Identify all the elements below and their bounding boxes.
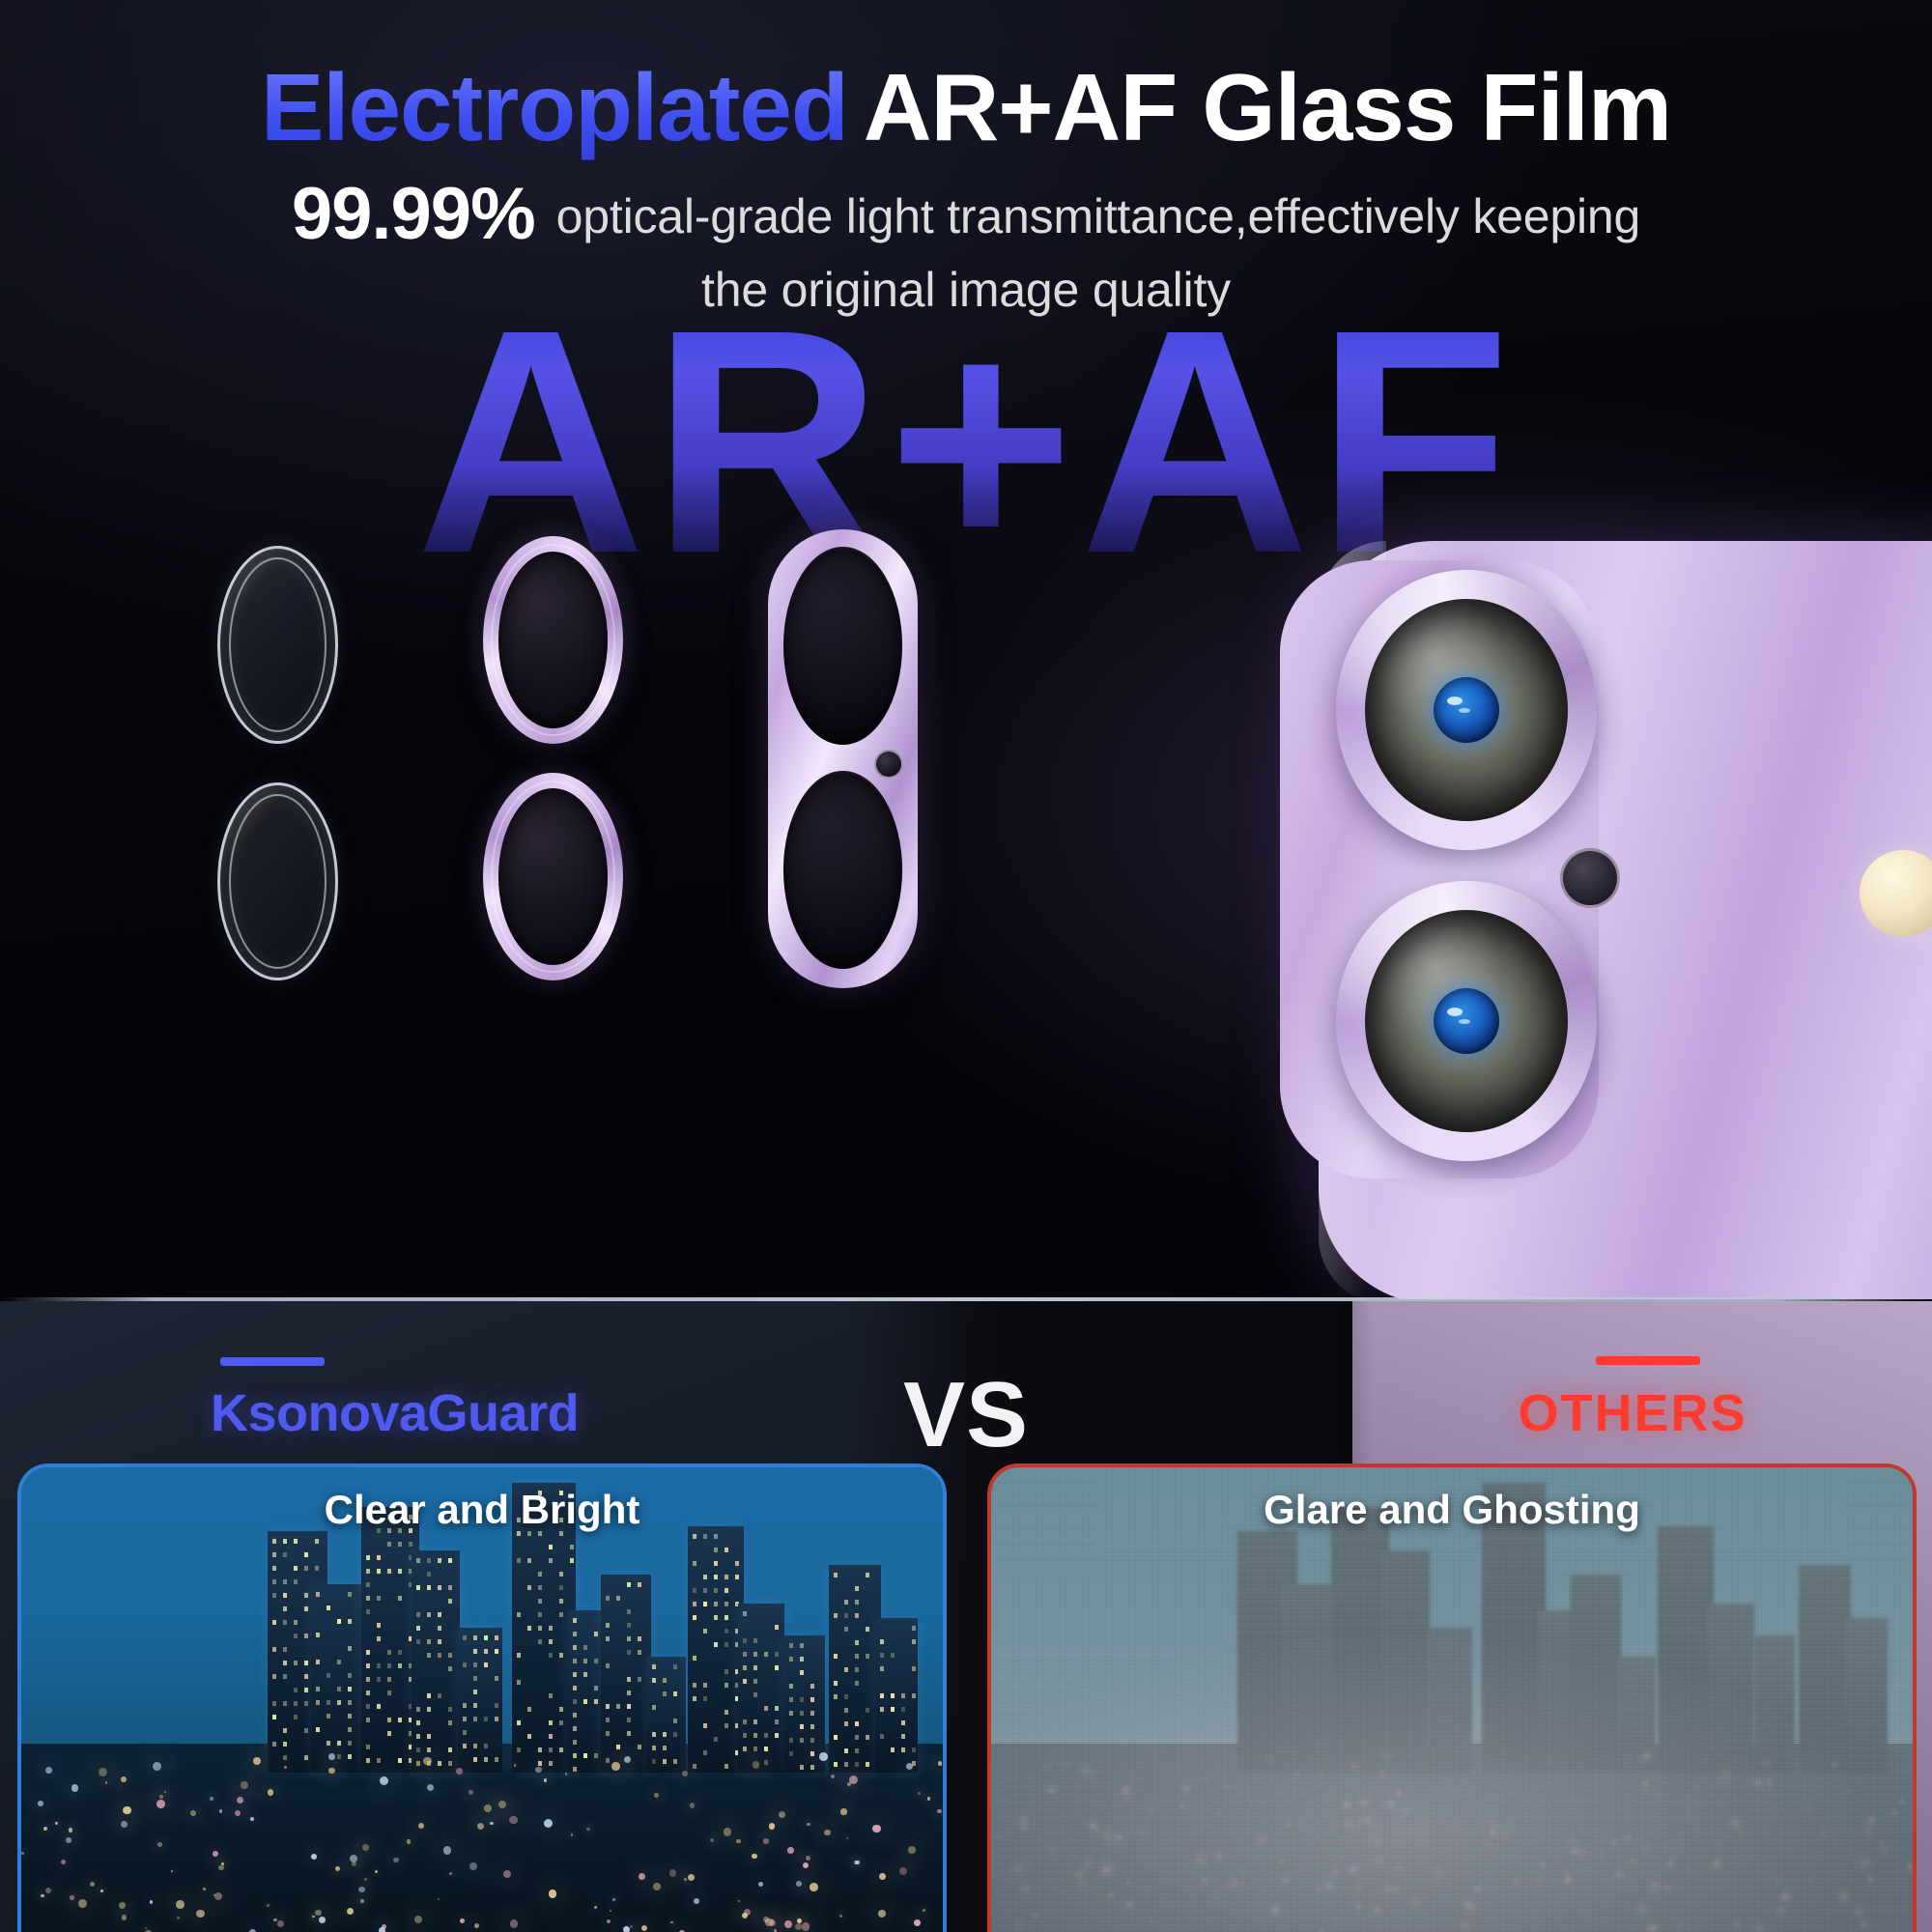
city-light <box>586 1828 589 1831</box>
city-light <box>1082 1766 1090 1774</box>
city-light <box>736 1839 741 1844</box>
city-light <box>1048 1787 1055 1794</box>
city-light <box>779 1811 785 1818</box>
city-light <box>1648 1889 1653 1893</box>
city-light <box>1565 1870 1568 1873</box>
city-light <box>1104 1864 1113 1873</box>
city-light <box>221 1862 224 1865</box>
city-light <box>1078 1878 1087 1887</box>
city-light <box>1648 1924 1657 1932</box>
city-light <box>1109 1892 1114 1897</box>
city-light <box>1343 1801 1350 1808</box>
city-light <box>1764 1761 1769 1766</box>
city-light <box>1139 1829 1146 1835</box>
product-lineup <box>0 0 1932 1299</box>
city-light <box>1047 1833 1050 1835</box>
city-light <box>758 1882 763 1887</box>
city-light <box>611 1762 620 1771</box>
city-light <box>469 1790 473 1795</box>
card-caption-clear: Clear and Bright <box>21 1487 943 1533</box>
comparison-card-clear: Clear and Bright <box>17 1463 947 1932</box>
city-light <box>1375 1839 1380 1845</box>
city-light <box>753 1761 759 1768</box>
city-light <box>607 1919 611 1924</box>
city-light <box>594 1906 597 1909</box>
city-light <box>565 1773 567 1775</box>
city-light <box>908 1846 916 1854</box>
city-light <box>66 1837 71 1843</box>
city-lights <box>21 1734 943 1932</box>
city-light <box>996 1834 1000 1838</box>
city-light <box>769 1823 775 1829</box>
frame-lens-opening <box>783 771 902 969</box>
city-light <box>1847 1790 1849 1792</box>
city-light <box>267 1904 270 1907</box>
city-light <box>1202 1878 1207 1883</box>
city-light <box>123 1806 130 1814</box>
city-light <box>1256 1775 1260 1778</box>
city-light <box>1630 1859 1635 1864</box>
city-light <box>1033 1914 1037 1918</box>
hero-section: AR+AF ElectroplatedAR+AF Glass Film 99.9… <box>0 0 1932 1299</box>
city-light <box>268 1789 273 1795</box>
city-light <box>549 1889 557 1898</box>
city-light <box>1076 1872 1081 1877</box>
city-light <box>99 1768 107 1776</box>
city-light <box>1396 1790 1403 1797</box>
city-light <box>1158 1881 1160 1883</box>
city-light <box>70 1895 74 1900</box>
city-light <box>1379 1771 1386 1777</box>
city-light <box>1768 1781 1773 1786</box>
city-light <box>241 1781 248 1789</box>
flash-led <box>1860 850 1932 937</box>
city-light <box>153 1762 161 1771</box>
city-light <box>1639 1760 1642 1763</box>
city-light <box>407 1839 411 1843</box>
city-light <box>1245 1849 1248 1852</box>
city-light <box>443 1846 452 1855</box>
city-light <box>1152 1847 1155 1850</box>
city-light <box>1816 1852 1818 1854</box>
city-light <box>923 1909 925 1912</box>
city-light <box>1638 1905 1646 1913</box>
city-light <box>1892 1810 1897 1815</box>
city-light <box>277 1920 284 1927</box>
city-light <box>69 1828 73 1833</box>
city-light <box>831 1775 835 1778</box>
city-light <box>350 1855 357 1862</box>
city-light <box>806 1856 810 1861</box>
product-infographic: AR+AF ElectroplatedAR+AF Glass Film 99.9… <box>0 0 1932 1932</box>
city-light <box>752 1854 756 1859</box>
city-light <box>1676 1924 1679 1927</box>
city-light <box>1755 1925 1763 1932</box>
city-light <box>1643 1788 1648 1793</box>
city-light <box>1540 1862 1545 1867</box>
city-light <box>1271 1906 1280 1915</box>
city-light <box>122 1915 128 1920</box>
city-light <box>839 1915 842 1918</box>
city-light <box>213 1851 218 1857</box>
city-light <box>214 1892 222 1900</box>
city-light <box>1268 1757 1273 1762</box>
city-light <box>1789 1815 1791 1817</box>
city-light <box>742 1913 748 1918</box>
city-light <box>1642 1781 1647 1786</box>
city-light <box>840 1808 846 1814</box>
city-light <box>899 1867 907 1875</box>
city-light <box>1356 1885 1361 1889</box>
city-light <box>1781 1892 1789 1900</box>
city-light <box>1491 1844 1492 1846</box>
city-light <box>1626 1835 1631 1840</box>
city-light <box>1731 1819 1739 1827</box>
building <box>361 1507 419 1773</box>
tempered-glass-lens-disc <box>217 782 338 980</box>
city-light <box>1250 1804 1252 1805</box>
lens-aperture <box>1434 677 1499 743</box>
city-light <box>196 1910 205 1918</box>
city-light <box>1600 1855 1602 1857</box>
city-light <box>1206 1777 1207 1779</box>
city-light <box>1019 1816 1028 1825</box>
city-light <box>379 1927 385 1932</box>
city-light <box>1833 1762 1837 1767</box>
city-light <box>1720 1770 1728 1777</box>
city-light <box>237 1797 243 1804</box>
comparison-card-glare: Glare and Ghosting <box>987 1463 1917 1932</box>
city-light <box>335 1866 340 1871</box>
city-light <box>347 1908 354 1915</box>
city-light <box>1861 1859 1869 1867</box>
frame-lens-opening <box>783 547 902 745</box>
city-light <box>630 1925 633 1928</box>
camera-lens-top <box>1336 570 1597 850</box>
city-light <box>1294 1773 1298 1776</box>
city-light <box>1861 1921 1867 1927</box>
city-light <box>1464 1790 1466 1792</box>
lens-glass <box>1365 599 1568 821</box>
city-light <box>624 1756 631 1763</box>
city-light <box>1420 1781 1423 1784</box>
city-light <box>21 1852 24 1855</box>
city-light <box>1287 1823 1291 1827</box>
city-light <box>1375 1891 1379 1896</box>
city-light <box>380 1776 388 1785</box>
city-light <box>284 1766 288 1770</box>
city-light <box>319 1917 326 1923</box>
city-light <box>477 1823 484 1830</box>
city-light <box>1115 1833 1122 1841</box>
city-light <box>1436 1876 1439 1879</box>
city-light <box>682 1771 688 1776</box>
city-light <box>641 1925 647 1931</box>
city-light <box>684 1878 687 1881</box>
city-light <box>879 1873 886 1880</box>
city-light <box>769 1919 776 1926</box>
lens-aperture <box>1434 988 1499 1054</box>
iphone-camera-module <box>1319 541 1932 1299</box>
city-light <box>460 1918 465 1923</box>
city-light <box>1609 1880 1612 1883</box>
city-light <box>1022 1886 1030 1893</box>
city-light <box>612 1898 615 1901</box>
city-light <box>438 1898 440 1900</box>
city-light <box>810 1883 818 1891</box>
city-light <box>1242 1870 1245 1873</box>
city-light <box>119 1902 126 1909</box>
city-lights <box>991 1734 1913 1932</box>
city-light <box>1360 1799 1368 1806</box>
city-light <box>1413 1897 1421 1905</box>
city-light <box>1320 1773 1322 1776</box>
city-light <box>1564 1876 1572 1884</box>
city-light <box>1196 1856 1204 1863</box>
city-light <box>797 1918 802 1923</box>
city-light <box>1358 1819 1364 1825</box>
city-light <box>145 1927 148 1930</box>
city-light <box>1216 1812 1219 1815</box>
city-light <box>1365 1817 1371 1823</box>
city-light <box>1351 1764 1357 1770</box>
city-light <box>235 1810 241 1816</box>
city-light <box>1332 1870 1338 1876</box>
city-light <box>937 1809 941 1813</box>
city-light <box>1383 1752 1389 1758</box>
city-light <box>1304 1869 1306 1871</box>
city-light <box>1864 1826 1873 1834</box>
city-light <box>1128 1883 1131 1886</box>
city-light <box>1016 1922 1021 1927</box>
city-light <box>121 1776 127 1782</box>
city-light <box>918 1792 921 1795</box>
city-light <box>1179 1804 1184 1808</box>
city-light <box>1151 1919 1153 1922</box>
city-light <box>1397 1865 1402 1870</box>
city-light <box>1350 1866 1357 1874</box>
city-light <box>375 1870 378 1873</box>
city-light <box>1464 1901 1469 1906</box>
city-light <box>1224 1784 1228 1788</box>
city-light <box>250 1817 254 1821</box>
city-light <box>1425 1847 1427 1849</box>
city-light <box>763 1838 768 1843</box>
city-light <box>218 1865 224 1871</box>
city-light <box>203 1888 206 1890</box>
city-light <box>710 1838 714 1842</box>
city-light <box>312 1916 314 1918</box>
city-light <box>1810 1877 1813 1880</box>
city-light <box>1347 1821 1351 1826</box>
city-light <box>38 1801 43 1806</box>
city-light <box>639 1873 645 1880</box>
city-light <box>938 1761 943 1766</box>
city-light <box>1437 1868 1443 1874</box>
city-light <box>1571 1848 1577 1855</box>
city-light <box>1415 1879 1417 1881</box>
city-light <box>784 1920 792 1928</box>
city-light <box>1900 1800 1903 1803</box>
city-light <box>510 1919 519 1928</box>
city-light <box>1503 1833 1508 1837</box>
city-light <box>1880 1842 1883 1845</box>
city-light <box>1356 1904 1361 1909</box>
city-light <box>358 1887 364 1892</box>
city-light <box>1821 1831 1824 1833</box>
city-light <box>498 1801 505 1807</box>
city-light <box>654 1793 659 1798</box>
city-light <box>514 1764 516 1766</box>
city-light <box>360 1899 364 1903</box>
city-light <box>156 1800 165 1808</box>
city-light <box>1317 1887 1321 1890</box>
city-light <box>653 1883 661 1890</box>
city-light <box>190 1810 196 1816</box>
city-light <box>1655 1791 1661 1797</box>
city-light <box>872 1825 881 1833</box>
city-light <box>1586 1867 1590 1871</box>
city-light <box>1777 1907 1785 1915</box>
city-light <box>1408 1756 1411 1759</box>
city-light <box>824 1830 830 1835</box>
city-light <box>1049 1848 1055 1854</box>
city-light <box>544 1819 553 1828</box>
city-light <box>509 1816 518 1825</box>
city-light <box>1280 1861 1283 1863</box>
city-light <box>1665 1886 1669 1889</box>
city-light <box>1086 1860 1093 1866</box>
city-light <box>1126 1902 1132 1908</box>
city-light <box>1127 1798 1131 1802</box>
city-light <box>41 1894 44 1898</box>
city-light <box>328 1768 335 1775</box>
city-light <box>1662 1845 1663 1847</box>
city-light <box>1612 1840 1617 1845</box>
city-light <box>469 1862 477 1870</box>
city-light <box>449 1872 452 1875</box>
city-light <box>906 1763 913 1770</box>
city-light <box>1021 1825 1027 1831</box>
city-light <box>878 1910 886 1918</box>
city-light <box>1491 1819 1496 1825</box>
city-light <box>1652 1881 1660 1889</box>
frame-flash-opening <box>874 750 903 779</box>
city-light <box>803 1862 809 1868</box>
city-light <box>1095 1830 1098 1833</box>
city-light <box>418 1823 424 1829</box>
city-light <box>1855 1908 1862 1916</box>
city-light <box>1667 1861 1674 1867</box>
city-light <box>670 1921 672 1923</box>
city-light <box>1214 1890 1218 1894</box>
city-light <box>849 1776 858 1784</box>
city-light <box>1283 1877 1289 1883</box>
city-light <box>1183 1785 1189 1791</box>
city-light <box>1062 1891 1064 1893</box>
city-light <box>690 1803 695 1807</box>
city-light <box>1243 1882 1245 1884</box>
city-light <box>484 1804 492 1812</box>
city-light <box>1014 1865 1022 1873</box>
city-light <box>688 1874 695 1881</box>
city-light <box>43 1827 47 1831</box>
city-light <box>669 1869 676 1876</box>
city-light <box>105 1781 108 1784</box>
city-light <box>787 1847 794 1854</box>
city-light <box>1704 1758 1707 1761</box>
city-light <box>253 1757 261 1765</box>
city-light <box>544 1778 547 1781</box>
city-light <box>315 1910 321 1916</box>
city-light <box>623 1926 630 1932</box>
city-light <box>1462 1921 1469 1929</box>
city-light <box>90 1882 95 1887</box>
others-label: OTHERS <box>1391 1383 1874 1443</box>
city-light <box>1230 1880 1238 1889</box>
city-light <box>1374 1907 1380 1914</box>
city-light <box>1755 1779 1762 1786</box>
city-light <box>1258 1836 1265 1844</box>
city-light <box>1867 1876 1874 1883</box>
city-light <box>1550 1762 1553 1765</box>
city-light <box>414 1916 422 1923</box>
city-light <box>914 1919 921 1926</box>
city-light <box>1346 1818 1349 1821</box>
city-light <box>164 1791 166 1793</box>
city-light <box>328 1753 335 1760</box>
city-light <box>1376 1859 1381 1864</box>
city-light <box>1384 1885 1392 1892</box>
skyline-clear <box>21 1467 943 1932</box>
city-light <box>121 1821 128 1828</box>
city-light <box>1393 1887 1398 1891</box>
city-light <box>311 1854 317 1860</box>
lens-glass <box>1365 910 1568 1132</box>
city-light <box>61 1860 66 1864</box>
city-light <box>393 1858 399 1863</box>
skyline-hazy <box>991 1467 1913 1932</box>
city-light <box>1868 1816 1875 1823</box>
city-light <box>171 1870 173 1872</box>
city-light <box>724 1828 731 1835</box>
city-light <box>45 1888 51 1893</box>
city-light <box>490 1822 493 1825</box>
city-light <box>1324 1882 1333 1890</box>
city-light <box>1636 1767 1638 1769</box>
city-light <box>219 1809 222 1812</box>
microphone-port <box>1560 848 1620 908</box>
city-light <box>1090 1823 1096 1830</box>
city-light <box>1770 1777 1773 1780</box>
city-light <box>1737 1830 1741 1833</box>
city-light <box>150 1900 154 1904</box>
city-light <box>1713 1861 1720 1868</box>
city-light <box>1474 1887 1479 1891</box>
city-light <box>1882 1847 1888 1853</box>
city-light <box>177 1917 180 1919</box>
card-caption-glare: Glare and Ghosting <box>991 1487 1913 1533</box>
city-light <box>1336 1917 1338 1918</box>
city-light <box>427 1784 434 1791</box>
city-light <box>456 1768 463 1775</box>
tempered-glass-lens-disc <box>217 546 338 744</box>
electroplated-metal-ring <box>483 536 623 744</box>
city-light <box>1387 1800 1396 1808</box>
city-light <box>535 1767 541 1773</box>
city-light <box>55 1822 57 1824</box>
city-light <box>157 1842 162 1847</box>
